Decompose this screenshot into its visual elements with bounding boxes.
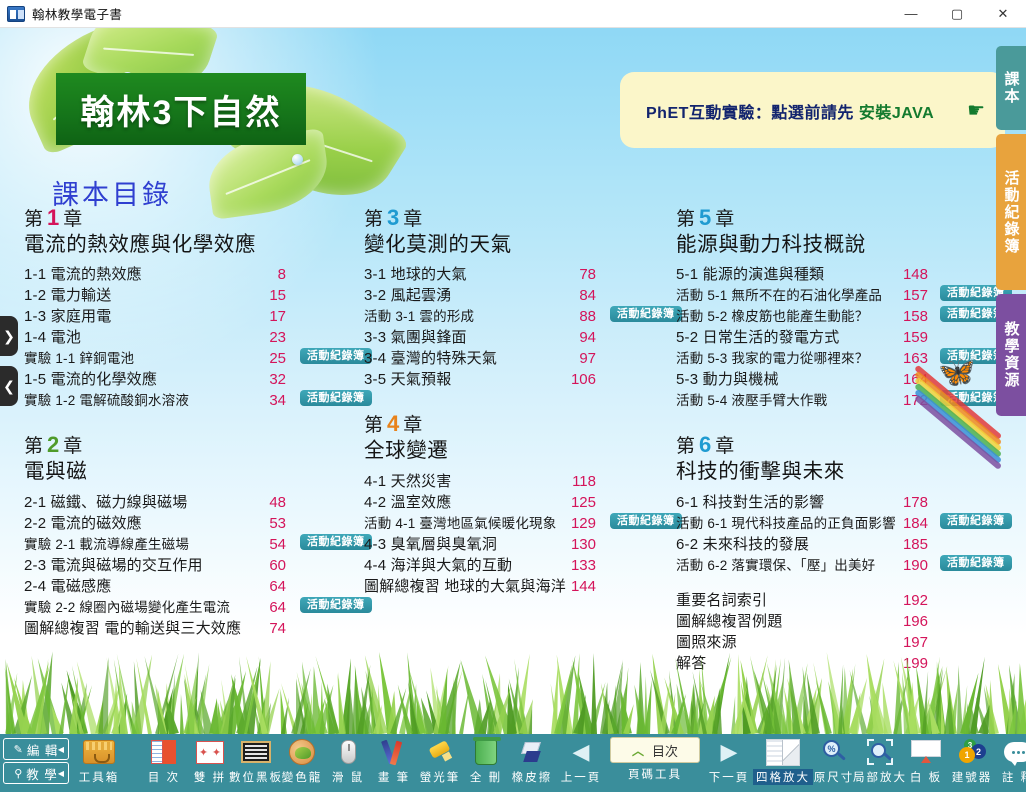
toc-entry-label: 圖解總複習 地球的大氣與海洋 [364,576,566,597]
toc-entry-label: 活動 6-2 落實環保、「壓」出美好 [676,555,875,576]
toc-column-3: 第5章能源與動力科技概說5-1 能源的演進與種類148活動 5-1 無所不在的石… [676,204,1006,694]
next-page-label: 下一頁 [709,769,750,785]
toc-entry-label: 活動 5-2 橡皮筋也能產生動能？ [676,306,868,327]
toc-entry-label: 實驗 2-1 載流導線產生磁場 [24,534,189,555]
toc-entry[interactable]: 3-1 地球的大氣78 [364,264,674,285]
toc-entry-page: 106 [566,369,596,390]
toc-entry-label: 1-5 電流的化學效應 [24,369,157,390]
phet-banner[interactable]: PhET互動實驗：點選前請先 安裝JAVA ☛ [620,72,1005,148]
chapter-suffix: 章 [403,415,423,436]
toc-entry-label: 3-3 氣團與鋒面 [364,327,467,348]
toc-entry-label: 4-2 溫室效應 [364,492,451,513]
view-whiteboard-label: 白 板 [910,769,942,785]
toc-entry-page: 157 [898,285,928,306]
mouse-icon [331,737,365,767]
toc-entry-label: 實驗 1-1 鋅銅電池 [24,348,134,369]
toc-entry-label: 圖解總複習例題 [676,611,782,632]
chapter-suffix: 章 [715,436,735,457]
toc-entry[interactable]: 6-2 未來科技的發展185 [676,534,1006,555]
prev-page-label: 上一頁 [561,769,602,785]
view-whiteboard[interactable]: 白 板 [903,734,949,790]
toc-entry[interactable]: 重要名詞索引192 [676,590,1006,611]
toc-entry-label: 1-1 電流的熱效應 [24,264,142,285]
close-button[interactable]: ✕ [980,0,1026,28]
toc-entry[interactable]: 1-3 家庭用電17 [24,306,364,327]
toc-entry-page: 48 [262,492,286,513]
chapter-prefix: 第 [24,209,44,230]
toc-entry-page: 190 [898,555,928,576]
chapter-entry-list: 2-1 磁鐵、磁力線與磁場482-2 電流的磁效應53實驗 2-1 載流導線產生… [24,492,364,639]
chapter-number: 3 [384,205,403,230]
percent-magnifier-icon: % [817,737,851,767]
number-generator-icon: 321 [955,737,989,767]
toc-entry[interactable]: 活動 5-2 橡皮筋也能產生動能？158活動紀錄簿 [676,306,1006,327]
nav-expand-right-button[interactable]: ❯ [0,316,18,356]
teach-mode-button[interactable]: ⚲ 教 學 ◀ [3,762,69,784]
toc-entry-page: 178 [898,492,928,513]
tool-highlighter-label: 螢光筆 [420,769,461,785]
toc-entry-label: 3-4 臺灣的特殊天氣 [364,348,497,369]
toolbox-icon [82,737,116,767]
activity-log-badge[interactable]: 活動紀錄簿 [300,348,372,364]
highlighter-icon [423,737,457,767]
toc-entry-label: 活動 5-1 無所不在的石油化學產品 [676,285,882,306]
tool-pen[interactable]: 畫 筆 [371,734,417,790]
toc-entry[interactable]: 活動 6-1 現代科技產品的正負面影響184活動紀錄簿 [676,513,1006,534]
toc-entry-label: 2-4 電磁感應 [24,576,111,597]
toc-entry-page: 192 [898,590,928,611]
toc-icon [147,737,181,767]
toc-entry[interactable]: 圖解總複習 地球的大氣與海洋144 [364,576,674,597]
toc-entry-label: 1-3 家庭用電 [24,306,111,327]
chevron-left-icon: ◀ [58,769,65,778]
right-triangle-icon: ▶ [712,737,746,767]
toc-entry[interactable]: 1-5 電流的化學效應32 [24,369,364,390]
chapter-block: 第2章電與磁2-1 磁鐵、磁力線與磁場482-2 電流的磁效應53實驗 2-1 … [24,431,364,638]
chapter-number: 1 [44,205,63,230]
phet-banner-text: PhET互動實驗：點選前請先 安裝JAVA [646,99,934,123]
toc-entry[interactable]: 活動 3-1 雲的形成88活動紀錄簿 [364,306,674,327]
toc-entry-label: 5-1 能源的演進與種類 [676,264,824,285]
toolbox-label: 工具箱 [79,769,120,785]
book-icon [7,6,25,22]
view-four-grid-zoom[interactable]: 四格放大 [755,734,811,790]
toc-entry-label: 2-3 電流與磁場的交互作用 [24,555,203,576]
app-root: 翰林教學電子書 — ▢ ✕ 翰林3下自然 課本目錄 PhET互動實驗：點選前請先… [0,0,1026,792]
bottom-toolbar: ✎ 編 輯 ◀ ⚲ 教 學 ◀ 工具箱 目 次 ✦✦ 雙 拼 數位黑板 [0,734,1026,792]
tool-pen-label: 畫 筆 [378,769,410,785]
tool-highlighter[interactable]: 螢光筆 [417,734,463,790]
toc-entry-label: 活動 4-1 臺灣地區氣候暖化現象 [364,513,556,534]
toc-entry-page: 125 [566,492,596,513]
chapter-block: 第1章電流的熱效應與化學效應1-1 電流的熱效應81-2 電力輸送151-3 家… [24,204,364,411]
side-tab-activity-log[interactable]: 活動紀錄簿 [996,134,1026,290]
entry-spacer [676,576,1006,590]
phet-banner-message: PhET互動實驗：點選前請先 [646,105,854,122]
toc-entry[interactable]: 活動 5-1 無所不在的石油化學產品157活動紀錄簿 [676,285,1006,306]
chapter-block: 第3章變化莫測的天氣3-1 地球的大氣783-2 風起雲湧84活動 3-1 雲的… [364,204,674,390]
toc-entry-label: 活動 3-1 雲的形成 [364,306,474,327]
page-indicator-value: 目次 [652,741,678,760]
dew-drop-icon [292,154,303,165]
install-java-link[interactable]: 安裝JAVA [859,105,934,122]
toc-entry[interactable]: 4-4 海洋與大氣的互動133 [364,555,674,576]
book-title: 翰林3下自然 [81,85,282,134]
page-tool-label: 頁碼工具 [628,766,682,782]
chapter-title: 全球變遷 [364,438,674,465]
prev-page-button[interactable]: ◀ 上一頁 [555,734,607,790]
toc-entry-label: 3-2 風起雲湧 [364,285,451,306]
toc-entry-page: 130 [566,534,596,555]
toc-entry-label: 3-5 天氣預報 [364,369,451,390]
chapter-title: 變化莫測的天氣 [364,232,674,259]
tool-eraser-label: 橡皮擦 [512,769,553,785]
view-number-generator-label: 建號器 [952,769,993,785]
toc-entry[interactable]: 圖解總複習 電的輸送與三大效應74 [24,618,364,639]
toc-entry[interactable]: 圖解總複習例題196 [676,611,1006,632]
toc-entry-page: 129 [566,513,596,534]
chapter-heading: 第5章 [676,204,1006,232]
toc-entry[interactable]: 4-2 溫室效應125 [364,492,674,513]
pencil-icon: ✎ [14,743,24,756]
toc-entry[interactable]: 5-2 日常生活的發電方式159 [676,327,1006,348]
toolbox-button[interactable]: 工具箱 [69,734,129,790]
toc-entry-page: 60 [262,555,286,576]
toc-entry-label: 6-2 未來科技的發展 [676,534,809,555]
page-tool[interactable]: ︿ 目次 頁碼工具 [607,734,703,790]
toc-entry-label: 5-3 動力與機械 [676,369,779,390]
activity-log-badge[interactable]: 活動紀錄簿 [940,555,1012,571]
page-canvas: 翰林3下自然 課本目錄 PhET互動實驗：點選前請先 安裝JAVA ☛ 第1章電… [0,28,1026,734]
toc-entry-page: 184 [898,513,928,534]
toc-entry-label: 4-1 天然災害 [364,471,451,492]
view-actual-size[interactable]: % 原尺寸 [811,734,857,790]
tool-eraser[interactable]: 橡皮擦 [509,734,555,790]
chapter-number: 4 [384,411,403,436]
chapter-title: 電與磁 [24,459,364,486]
chapter-number: 6 [696,432,715,457]
toc-entry-label: 1-2 電力輸送 [24,285,111,306]
toc-entry-page: 133 [566,555,596,576]
toc-entry-page: 64 [262,597,286,618]
toc-entry-label: 5-2 日常生活的發電方式 [676,327,839,348]
close-icon: ✕ [998,7,1009,20]
dual-page-icon: ✦✦ [193,737,227,767]
window-titlebar: 翰林教學電子書 — ▢ ✕ [0,0,1026,28]
trash-icon [469,737,503,767]
toc-entry-page: 74 [262,618,286,639]
chapter-prefix: 第 [364,415,384,436]
toc-entry[interactable]: 2-2 電流的磁效應53 [24,513,364,534]
grass-decoration [0,642,1026,734]
toc-entry-page: 118 [566,471,596,492]
window-title: 翰林教學電子書 [32,4,122,23]
activity-log-badge[interactable]: 活動紀錄簿 [300,390,372,406]
toc-entry[interactable]: 實驗 1-1 鋅銅電池25活動紀錄簿 [24,348,364,369]
toc-entry-label: 6-1 科技對生活的影響 [676,492,824,513]
tool-blackboard[interactable]: 數位黑板 [233,734,279,790]
toc-entry-label: 活動 6-1 現代科技產品的正負面影響 [676,513,896,534]
side-tab-strip: 課本 活動紀錄簿 教學資源 [996,46,1026,420]
toc-entry[interactable]: 2-1 磁鐵、磁力線與磁場48 [24,492,364,513]
activity-log-badge[interactable]: 活動紀錄簿 [610,306,682,322]
toc-entry-label: 4-3 臭氧層與臭氧洞 [364,534,497,555]
tool-toc[interactable]: 目 次 [141,734,187,790]
toc-entry-page: 32 [262,369,286,390]
tool-toc-label: 目 次 [148,769,180,785]
left-triangle-icon: ◀ [564,737,598,767]
toc-entry-page: 64 [262,576,286,597]
toc-entry[interactable]: 3-4 臺灣的特殊天氣97 [364,348,674,369]
minimize-button[interactable]: — [888,0,934,28]
toc-entry[interactable]: 1-4 電池23 [24,327,364,348]
tool-clear-all-label: 全 刪 [470,769,502,785]
toc-entry-label: 實驗 1-2 電解硫酸銅水溶液 [24,390,189,411]
maximize-button[interactable]: ▢ [934,0,980,28]
chapter-heading: 第4章 [364,410,674,438]
edit-mode-label: 編 輯 [27,740,58,759]
chapter-title: 能源與動力科技概說 [676,232,1006,259]
toc-entry-label: 1-4 電池 [24,327,81,348]
chapter-suffix: 章 [403,209,423,230]
toc-entry-page: 34 [262,390,286,411]
tool-clear-all[interactable]: 全 刪 [463,734,509,790]
toc-entry[interactable]: 2-3 電流與磁場的交互作用60 [24,555,364,576]
view-actual-size-label: 原尺寸 [814,769,855,785]
tool-blackboard-label: 數位黑板 [229,769,283,785]
toc-entry[interactable]: 6-1 科技對生活的影響178 [676,492,1006,513]
chapter-heading: 第3章 [364,204,674,232]
region-magnifier-icon [863,737,897,767]
toc-entry[interactable]: 1-1 電流的熱效應8 [24,264,364,285]
side-tab-textbook[interactable]: 課本 [996,46,1026,130]
activity-log-badge[interactable]: 活動紀錄簿 [610,513,682,529]
page-indicator[interactable]: ︿ 目次 [610,737,700,763]
toc-entry-label: 圖解總複習 電的輸送與三大效應 [24,618,241,639]
toc-entry[interactable]: 3-2 風起雲湧84 [364,285,674,306]
tool-chameleon[interactable]: 變色龍 [279,734,325,790]
toc-entry[interactable]: 2-4 電磁感應64 [24,576,364,597]
toc-entry[interactable]: 活動 5-4 液壓手臂大作戰172活動紀錄簿 [676,390,1006,411]
teach-mode-label: 教 學 [26,764,57,783]
chapter-entry-list: 5-1 能源的演進與種類148活動 5-1 無所不在的石油化學產品157活動紀錄… [676,264,1006,411]
toc-entry-label: 實驗 2-2 線圈內磁場變化產生電流 [24,597,230,618]
chapter-entry-list: 3-1 地球的大氣783-2 風起雲湧84活動 3-1 雲的形成88活動紀錄簿3… [364,264,674,390]
toc-entry-page: 23 [262,327,286,348]
blackboard-icon [239,737,273,767]
toc-entry-label: 3-1 地球的大氣 [364,264,467,285]
view-region-zoom-label: 局部放大 [853,769,907,785]
toc-entry-label: 2-1 磁鐵、磁力線與磁場 [24,492,187,513]
chapter-block: 第6章科技的衝擊與未來6-1 科技對生活的影響178活動 6-1 現代科技產品的… [676,431,1006,673]
toc-entry-page: 172 [898,390,928,411]
window-controls: — ▢ ✕ [888,0,1026,28]
toc-entry-page: 54 [262,534,286,555]
chapter-heading: 第1章 [24,204,364,232]
chapter-title: 科技的衝擊與未來 [676,459,1006,486]
toc-entry[interactable]: 5-1 能源的演進與種類148 [676,264,1006,285]
tool-mouse[interactable]: 滑 鼠 [325,734,371,790]
toc-entry-label: 活動 5-4 液壓手臂大作戰 [676,390,827,411]
view-region-zoom[interactable]: 局部放大 [857,734,903,790]
toc-entry[interactable]: 實驗 2-2 線圈內磁場變化產生電流64活動紀錄簿 [24,597,364,618]
toc-entry-label: 2-2 電流的磁效應 [24,513,142,534]
toc-entry-page: 15 [262,285,286,306]
chapter-prefix: 第 [24,436,44,457]
toc-entry[interactable]: 實驗 2-1 載流導線產生磁場54活動紀錄簿 [24,534,364,555]
nav-collapse-left-button[interactable]: ❮ [0,366,18,406]
chapter-number: 2 [44,432,63,457]
toc-column-1: 第1章電流的熱效應與化學效應1-1 電流的熱效應81-2 電力輸送151-3 家… [24,204,364,659]
annotation-icon [1001,737,1026,767]
edit-mode-button[interactable]: ✎ 編 輯 ◀ [3,738,69,760]
toc-entry[interactable]: 實驗 1-2 電解硫酸銅水溶液34活動紀錄簿 [24,390,364,411]
toc-entry[interactable]: 1-2 電力輸送15 [24,285,364,306]
tool-dual-page-label: 雙 拼 [194,769,226,785]
toc-entry-page: 8 [262,264,286,285]
minimize-icon: — [905,7,918,20]
maximize-icon: ▢ [951,7,963,20]
butterfly-icon: 🦋 [938,358,975,388]
tool-mouse-label: 滑 鼠 [332,769,364,785]
view-annotation[interactable]: 註 釋 [995,734,1026,790]
toc-column-2: 第3章變化莫測的天氣3-1 地球的大氣783-2 風起雲湧84活動 3-1 雲的… [364,204,674,617]
book-title-plate: 翰林3下自然 [56,73,306,145]
toc-entry-page: 94 [566,327,596,348]
eraser-icon [515,737,549,767]
chapter-heading: 第2章 [24,431,364,459]
toc-entry-label: 重要名詞索引 [676,590,767,611]
toc-entry[interactable]: 4-1 天然災害118 [364,471,674,492]
activity-log-badge[interactable]: 活動紀錄簿 [300,597,372,613]
chapter-suffix: 章 [715,209,735,230]
chapter-heading: 第6章 [676,431,1006,459]
pointing-hand-icon: ☛ [967,98,985,123]
toc-entry-page: 148 [898,264,928,285]
toc-entry-page: 53 [262,513,286,534]
toc-entry[interactable]: 3-3 氣團與鋒面94 [364,327,674,348]
toc-entry-page: 97 [566,348,596,369]
side-tab-teaching-resources[interactable]: 教學資源 [996,294,1026,416]
toc-entry-label: 活動 5-3 我家的電力從哪裡來？ [676,348,868,369]
chapter-entry-list: 4-1 天然災害1184-2 溫室效應125活動 4-1 臺灣地區氣候暖化現象1… [364,471,674,597]
chapter-prefix: 第 [676,209,696,230]
chapter-entry-list: 1-1 電流的熱效應81-2 電力輸送151-3 家庭用電171-4 電池23實… [24,264,364,411]
whiteboard-icon [909,737,943,767]
activity-log-badge[interactable]: 活動紀錄簿 [300,534,372,550]
toc-entry-label: 4-4 海洋與大氣的互動 [364,555,512,576]
toc-entry-page: 25 [262,348,286,369]
chapter-block: 第4章全球變遷4-1 天然災害1184-2 溫室效應125活動 4-1 臺灣地區… [364,410,674,596]
toc-entry[interactable]: 活動 6-2 落實環保、「壓」出美好190活動紀錄簿 [676,555,1006,576]
mode-button-group: ✎ 編 輯 ◀ ⚲ 教 學 ◀ [0,734,69,786]
chevron-left-icon: ◀ [58,745,65,754]
chapter-suffix: 章 [63,209,83,230]
toc-entry-page: 144 [566,576,596,597]
toc-entry-page: 158 [898,306,928,327]
chapter-number: 5 [696,205,715,230]
view-annotation-label: 註 釋 [1002,769,1026,785]
pointer-icon: ⚲ [14,767,23,780]
toc-entry[interactable]: 4-3 臭氧層與臭氧洞130 [364,534,674,555]
chapter-title: 電流的熱效應與化學效應 [24,232,364,259]
chapter-prefix: 第 [676,436,696,457]
toc-entry[interactable]: 3-5 天氣預報106 [364,369,674,390]
tool-dual-page[interactable]: ✦✦ 雙 拼 [187,734,233,790]
next-page-button[interactable]: ▶ 下一頁 [703,734,755,790]
toc-entry-page: 78 [566,264,596,285]
view-four-grid-zoom-label: 四格放大 [753,769,813,785]
activity-log-badge[interactable]: 活動紀錄簿 [940,513,1012,529]
toc-entry-page: 196 [898,611,928,632]
book-spread-icon [766,737,800,767]
chapter-suffix: 章 [63,436,83,457]
toc-entry-page: 159 [898,327,928,348]
toc-entry[interactable]: 活動 4-1 臺灣地區氣候暖化現象129活動紀錄簿 [364,513,674,534]
pen-icon [377,737,411,767]
toc-entry-page: 163 [898,348,928,369]
chameleon-icon [285,737,319,767]
chevron-up-icon: ︿ [632,742,644,759]
toc-entry-page: 164 [898,369,928,390]
toc-entry-page: 185 [898,534,928,555]
toc-entry-page: 88 [566,306,596,327]
chapter-prefix: 第 [364,209,384,230]
toc-entry-page: 84 [566,285,596,306]
view-number-generator[interactable]: 321 建號器 [949,734,995,790]
tool-chameleon-label: 變色龍 [282,769,323,785]
toc-entry-page: 17 [262,306,286,327]
